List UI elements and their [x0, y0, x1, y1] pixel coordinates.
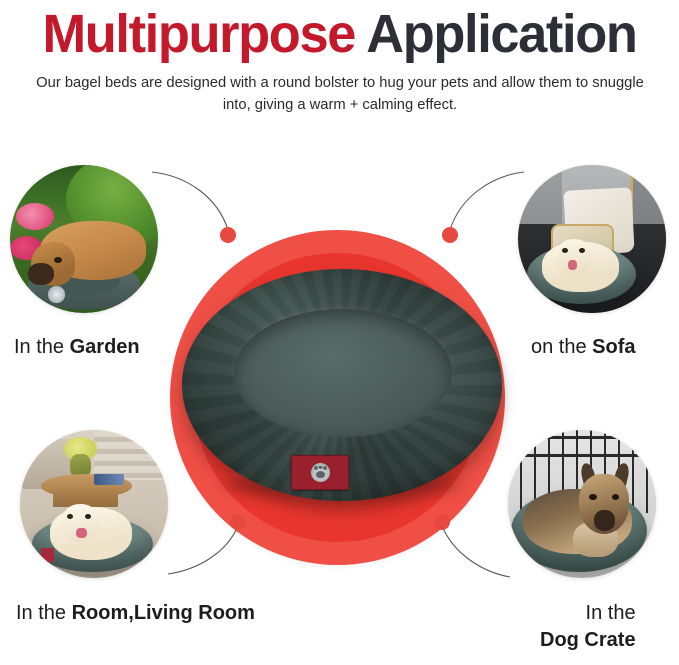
feature-stage: In the Garden on the Sofa In the Room,Li… — [0, 140, 679, 665]
caption-garden-plain: In the — [14, 336, 70, 358]
bed-inner-cushion — [234, 309, 452, 437]
crate-dog-muzzle — [594, 510, 615, 531]
caption-room-bold: Room, — [72, 602, 134, 624]
caption-garden: In the Garden — [14, 334, 140, 361]
crate-scene — [508, 430, 656, 578]
garden-scene — [10, 165, 158, 313]
caption-room-line1: In the Room, — [16, 602, 134, 624]
room-dog-tongue — [76, 528, 86, 538]
living-room-scene — [20, 430, 168, 578]
sofa-dog-tongue — [568, 260, 577, 270]
crate-mid-rail — [508, 454, 656, 457]
caption-room-plain: In the — [16, 602, 72, 624]
sofa-dog-eye-left — [562, 248, 568, 253]
caption-sofa-plain: on the — [531, 336, 592, 358]
garden-dog-eye — [54, 257, 61, 263]
garden-dog-muzzle — [28, 263, 55, 285]
connector-dot-garden — [220, 227, 236, 243]
sofa-scene — [518, 165, 666, 313]
hero-bagel-bed — [182, 255, 502, 515]
caption-room-line2: Living Room — [134, 602, 255, 624]
paw-print-icon — [311, 463, 330, 482]
garden-bed-tag-icon — [48, 286, 64, 302]
sofa-dog-eye-right — [579, 248, 585, 253]
room-stairs — [94, 430, 168, 480]
photo-dog-in-living-room[interactable] — [20, 430, 168, 578]
header: Multipurpose Application Our bagel beds … — [0, 0, 679, 116]
crate-dog-eye-right — [612, 494, 619, 500]
garden-flower — [16, 203, 54, 230]
caption-sofa-bold: Sofa — [592, 336, 635, 358]
caption-crate-line1: In the — [540, 600, 636, 627]
caption-room: In the Room,Living Room — [16, 600, 255, 627]
page-title: Multipurpose Application — [10, 0, 669, 64]
caption-sofa: on the Sofa — [531, 334, 636, 361]
room-book — [94, 474, 124, 484]
photo-dog-in-garden[interactable] — [10, 165, 158, 313]
caption-garden-bold: Garden — [70, 336, 140, 358]
caption-crate-line2: Dog Crate — [540, 629, 636, 651]
bed-brand-tag — [291, 455, 349, 490]
caption-crate: In theDog Crate — [540, 600, 636, 654]
photo-dog-on-sofa[interactable] — [518, 165, 666, 313]
connector-dot-sofa — [442, 227, 458, 243]
room-bed-tag-icon — [41, 548, 54, 561]
page-subtitle: Our bagel beds are designed with a round… — [34, 72, 645, 116]
page-title-red: Multipurpose — [42, 4, 355, 64]
page-title-dark: Application — [355, 4, 636, 64]
photo-dog-in-dog-crate[interactable] — [508, 430, 656, 578]
crate-top-rail — [508, 436, 656, 439]
crate-dog-eye-left — [589, 494, 596, 500]
